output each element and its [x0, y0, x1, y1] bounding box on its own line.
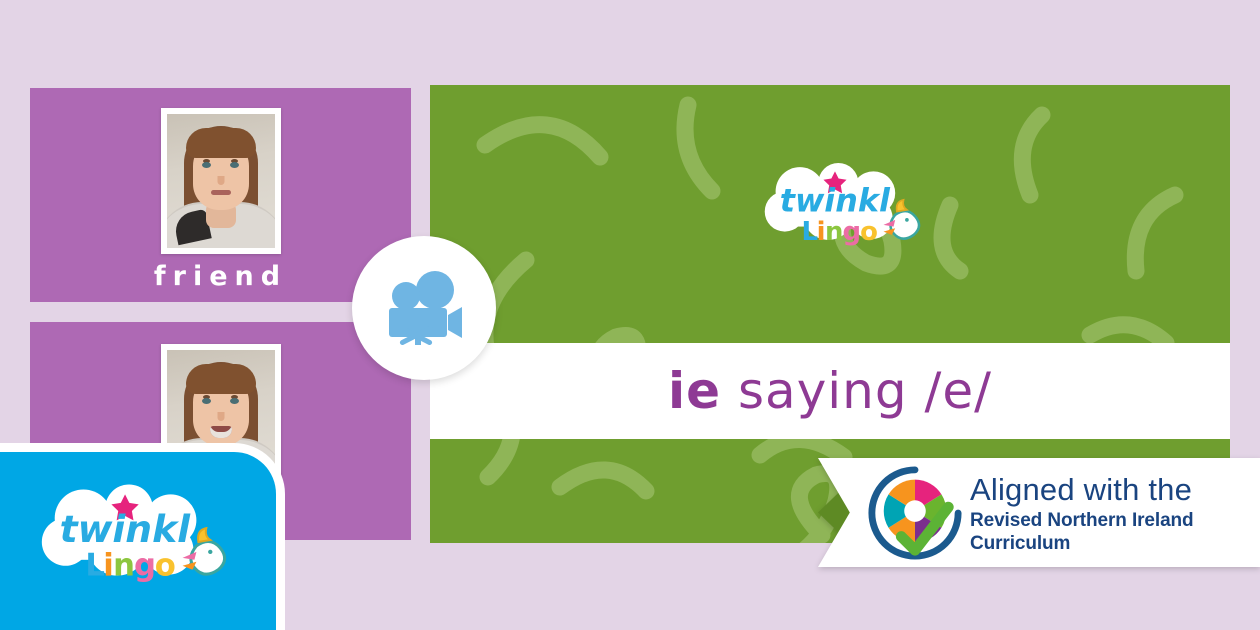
nose — [217, 176, 224, 185]
svg-text:L: L — [802, 217, 819, 247]
slide-canvas: friend — [0, 0, 1260, 630]
eye-right — [230, 162, 239, 168]
grapheme-text: ie — [668, 362, 721, 420]
ni-curriculum-shutter-icon — [866, 464, 964, 562]
eye-left — [202, 162, 211, 168]
video-camera-icon — [382, 271, 466, 345]
banner-line-1: Aligned with the — [970, 474, 1252, 507]
twinkl-lingo-logo: twinkl L i n g o — [22, 484, 240, 594]
svg-text:o: o — [860, 217, 878, 247]
svg-text:n: n — [825, 217, 843, 247]
curriculum-alignment-banner: Aligned with the Revised Northern Irelan… — [818, 458, 1260, 567]
eye-right — [230, 398, 239, 404]
twinkl-lingo-corner-badge[interactable]: twinkl L i n g o — [0, 452, 276, 630]
eye-left — [202, 398, 211, 404]
fringe — [186, 364, 256, 394]
svg-text:twinkl: twinkl — [60, 507, 191, 551]
word-card-friend: friend — [30, 88, 411, 302]
twinkl-lingo-logo: twinkl L i n g o — [748, 163, 932, 255]
photo-frame — [161, 108, 281, 254]
nose — [217, 412, 224, 421]
svg-text:g: g — [843, 217, 862, 247]
svg-text:g: g — [134, 548, 156, 584]
svg-text:L: L — [85, 548, 105, 584]
banner-line-2: Revised Northern Ireland Curriculum — [970, 510, 1252, 556]
mouth — [211, 190, 231, 195]
video-play-badge[interactable] — [352, 236, 496, 380]
phoneme-title: ie saying /e/ — [668, 362, 992, 420]
teacher-photo — [167, 114, 275, 248]
phoneme-band: ie saying /e/ — [430, 343, 1230, 439]
svg-text:n: n — [113, 548, 135, 584]
phoneme-rest-text: saying /e/ — [721, 362, 992, 420]
banner-text-block: Aligned with the Revised Northern Irelan… — [970, 474, 1252, 555]
fringe — [186, 128, 256, 158]
svg-text:twinkl: twinkl — [780, 184, 891, 220]
svg-text:o: o — [155, 548, 176, 584]
